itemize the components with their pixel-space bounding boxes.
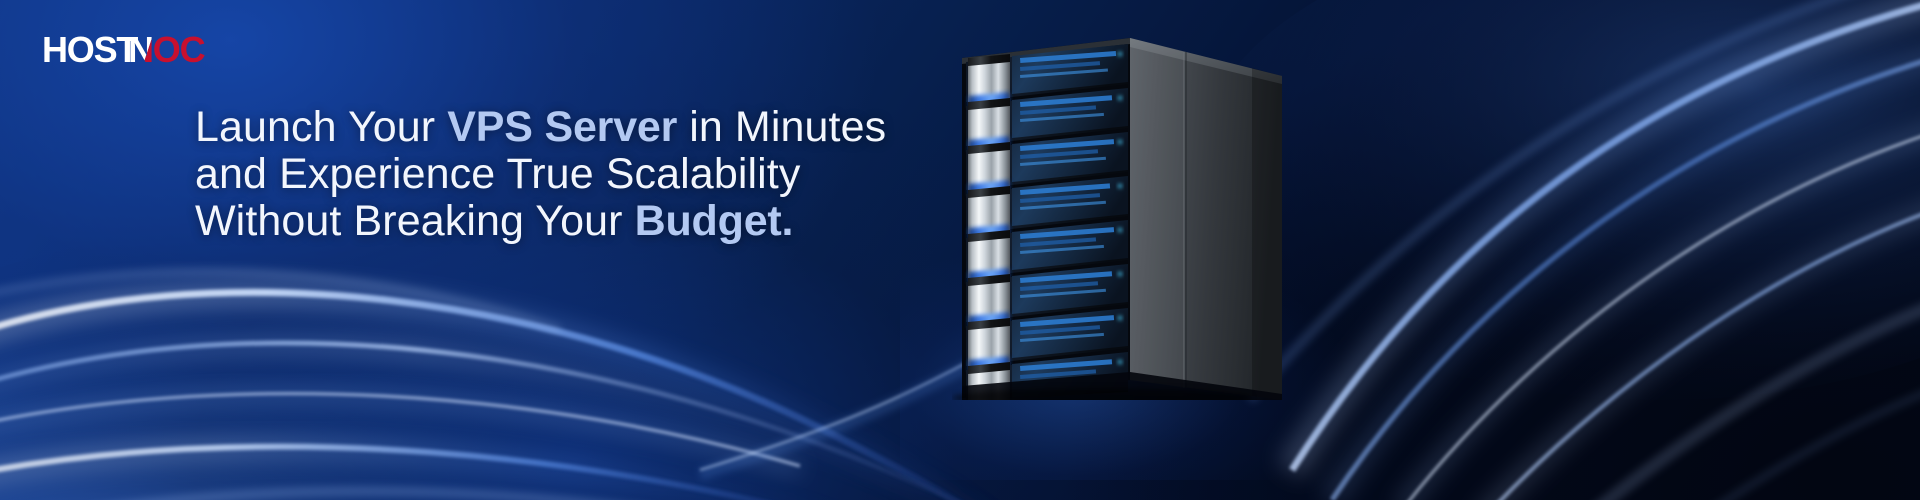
logo-text-host: HOST — [42, 29, 138, 70]
ribbon-group-right — [1250, 0, 1920, 500]
brand-logo[interactable]: HOST NOC HOST NOC — [40, 26, 240, 74]
headline-line-1-post: in Minutes — [677, 103, 886, 151]
glow-halo-left — [0, 220, 850, 500]
hero-headline: Launch Your VPS Server in Minutes and Ex… — [195, 104, 886, 245]
headline-line-3: Without Breaking Your Budget. — [195, 198, 886, 245]
headline-line-1-pre: Launch Your — [195, 103, 447, 151]
headline-highlight-budget: Budget. — [635, 197, 794, 245]
hero-banner: HOST NOC HOST NOC Launch Your VPS Server… — [0, 0, 1920, 500]
ribbon-group-left — [0, 272, 1100, 500]
glow-halo-right — [1200, 0, 1920, 400]
headline-line-1: Launch Your VPS Server in Minutes — [195, 104, 886, 151]
headline-line-3-pre: Without Breaking Your — [195, 197, 635, 245]
headline-line-2: and Experience True Scalability — [195, 151, 886, 198]
server-rack-image — [952, 14, 1282, 400]
hostnoc-logo-icon: HOST NOC HOST NOC — [40, 26, 240, 74]
headline-highlight-vps: VPS Server — [447, 103, 677, 151]
rack-side-panel — [1130, 38, 1282, 400]
